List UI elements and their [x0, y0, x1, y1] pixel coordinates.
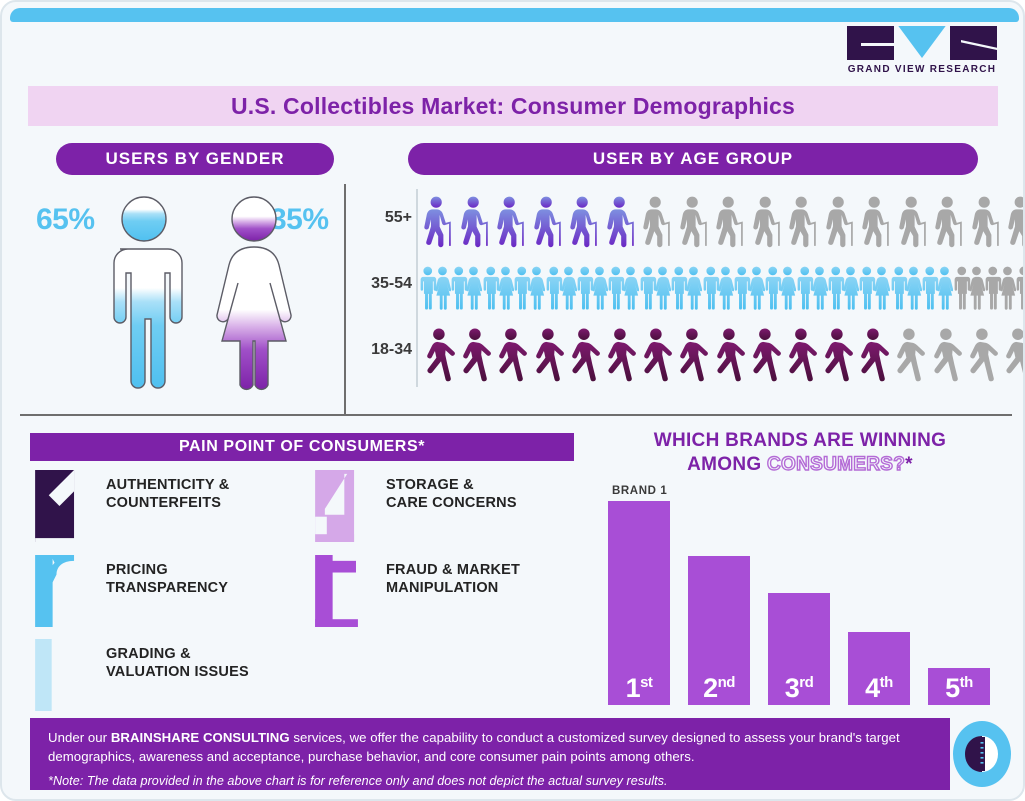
pain-point-item: PRICING TRANSPARENCY: [30, 555, 300, 635]
footer-note: *Note: The data provided in the above ch…: [48, 773, 932, 791]
walking-person-icon: [746, 323, 782, 385]
number-3-icon: [30, 639, 85, 711]
couple-icon: [734, 257, 765, 319]
age-icon-row-18-34: [420, 321, 1025, 387]
bar-2nd[interactable]: 2nd: [688, 556, 750, 705]
pain-point-label: PRICING TRANSPARENCY: [106, 561, 301, 597]
brainshare-brain-icon: [952, 720, 1012, 788]
age-icon-row-55plus: [420, 189, 1025, 255]
elderly-person-icon: [639, 191, 675, 253]
brands-title-consumers: CONSUMERS?: [767, 454, 905, 475]
pain-point-line1: FRAUD & MARKET: [386, 562, 520, 578]
number-3-glyph: [30, 639, 85, 711]
pain-point-item: FRAUD & MARKET MANIPULATION: [310, 555, 580, 635]
vertical-divider: [344, 184, 346, 416]
female-figure-icon: [206, 193, 302, 393]
elderly-person-icon: [712, 191, 748, 253]
walking-person-icon: [818, 323, 854, 385]
bar-wrapper: 2nd: [688, 556, 750, 705]
page-title: U.S. Collectibles Market: Consumer Demog…: [231, 93, 795, 120]
brands-bar-chart: WHICH BRANDS ARE WINNING AMONG CONSUMERS…: [594, 427, 1006, 705]
pain-point-line2: TRANSPARENCY: [106, 580, 228, 596]
walking-person-icon: [854, 323, 890, 385]
walking-person-icon: [782, 323, 818, 385]
age-icon-row-35-54: [420, 255, 1025, 321]
elderly-person-icon: [676, 191, 712, 253]
age-label-55plus: 55+: [356, 209, 412, 227]
elderly-person-icon: [895, 191, 931, 253]
pain-point-label: GRADING & VALUATION ISSUES: [106, 645, 301, 681]
age-row-18-34: 18-34: [354, 321, 1002, 387]
page-title-band: U.S. Collectibles Market: Consumer Demog…: [28, 86, 998, 126]
footer-text-pre: Under our: [48, 730, 111, 745]
couple-icon: [640, 257, 671, 319]
couple-icon: [671, 257, 702, 319]
couple-icon: [546, 257, 577, 319]
elderly-person-icon: [530, 191, 566, 253]
couple-icon: [608, 257, 639, 319]
brand-1-annotation: BRAND 1: [612, 485, 667, 497]
pain-point-item: STORAGE & CARE CONCERNS: [310, 470, 580, 550]
pain-point-line2: MANIPULATION: [386, 580, 498, 596]
number-1-glyph: [30, 470, 85, 542]
elderly-person-icon: [858, 191, 894, 253]
walking-person-icon: [601, 323, 637, 385]
bar-4th[interactable]: 4th: [848, 632, 910, 705]
pain-point-label: STORAGE & CARE CONCERNS: [386, 476, 581, 512]
logo-g-block: [847, 26, 894, 60]
walking-person-icon: [637, 323, 673, 385]
elderly-person-icon: [566, 191, 602, 253]
number-4-glyph: [310, 470, 365, 542]
couple-icon: [451, 257, 482, 319]
bar-wrapper: 3rd: [768, 593, 830, 705]
walking-person-icon: [927, 323, 963, 385]
elderly-person-icon: [968, 191, 1004, 253]
couple-icon: [954, 257, 985, 319]
bar-rank-label: 5th: [945, 675, 973, 705]
bar-rank-label: 4th: [865, 675, 893, 705]
walking-person-icon: [492, 323, 528, 385]
elderly-person-icon: [822, 191, 858, 253]
logo-wordmark: GRAND VIEW RESEARCH: [847, 64, 997, 75]
number-1-icon: [30, 470, 85, 542]
walking-person-icon: [529, 323, 565, 385]
elderly-person-icon: [785, 191, 821, 253]
bar-3rd[interactable]: 3rd: [768, 593, 830, 705]
logo-r-block: [950, 26, 997, 60]
bar-group: 1st2nd3rd4th5th: [608, 501, 1000, 705]
elderly-person-icon: [1004, 191, 1025, 253]
age-row-35-54: 35-54: [354, 255, 1002, 321]
age-axis-tick: [416, 255, 418, 321]
bar-wrapper: 4th: [848, 632, 910, 705]
walking-person-icon: [565, 323, 601, 385]
pain-point-line1: GRADING &: [106, 646, 191, 662]
elderly-person-icon: [603, 191, 639, 253]
elderly-person-icon: [931, 191, 967, 253]
brands-chart-title: WHICH BRANDS ARE WINNING AMONG CONSUMERS…: [594, 427, 1006, 477]
brands-title-line1: WHICH BRANDS ARE WINNING: [654, 430, 947, 451]
pain-point-line2: CARE CONCERNS: [386, 495, 517, 511]
pain-point-label: FRAUD & MARKET MANIPULATION: [386, 561, 581, 597]
logo-marks: [847, 26, 997, 60]
elderly-person-icon: [457, 191, 493, 253]
number-4-icon: [310, 470, 365, 542]
couple-icon: [514, 257, 545, 319]
walking-person-icon: [420, 323, 456, 385]
male-figure-icon: [96, 193, 192, 393]
horizontal-divider: [20, 414, 1012, 416]
walking-person-icon: [673, 323, 709, 385]
elderly-person-icon: [749, 191, 785, 253]
walking-person-icon: [963, 323, 999, 385]
bar-wrapper: 1st: [608, 501, 670, 705]
couple-icon: [985, 257, 1016, 319]
elderly-person-icon: [420, 191, 456, 253]
brands-title-asterisk: *: [905, 454, 913, 475]
couple-icon: [828, 257, 859, 319]
walking-person-icon: [710, 323, 746, 385]
couple-icon: [922, 257, 953, 319]
couple-icon: [703, 257, 734, 319]
section-heading-age-group: USER BY AGE GROUP: [408, 143, 978, 175]
bar-wrapper: 5th: [928, 668, 990, 705]
number-2-glyph: [30, 555, 85, 627]
footer-brand-name: BRAINSHARE CONSULTING: [111, 730, 290, 745]
bar-rank-label: 3rd: [785, 675, 814, 705]
walking-person-icon: [999, 323, 1025, 385]
walking-person-icon: [890, 323, 926, 385]
couple-icon: [577, 257, 608, 319]
age-axis-tick: [416, 189, 418, 255]
couple-icon: [1016, 257, 1025, 319]
infographic-poster: GRAND VIEW RESEARCH U.S. Collectibles Ma…: [0, 0, 1025, 801]
footer-panel: Under our BRAINSHARE CONSULTING services…: [30, 718, 950, 790]
couple-icon: [420, 257, 451, 319]
couple-icon: [483, 257, 514, 319]
bar-1st[interactable]: 1st: [608, 501, 670, 705]
elderly-person-icon: [493, 191, 529, 253]
pain-point-line1: STORAGE &: [386, 477, 474, 493]
brands-title-among: AMONG: [687, 454, 767, 475]
pain-point-item: GRADING & VALUATION ISSUES: [30, 639, 300, 719]
pain-point-line1: AUTHENTICITY &: [106, 477, 229, 493]
walking-person-icon: [456, 323, 492, 385]
age-row-55plus: 55+: [354, 189, 1002, 255]
male-percentage: 65%: [36, 203, 95, 237]
age-label-18-34: 18-34: [356, 341, 412, 359]
couple-icon: [797, 257, 828, 319]
brand-logo: GRAND VIEW RESEARCH: [847, 26, 997, 76]
couple-icon: [765, 257, 796, 319]
pain-point-label: AUTHENTICITY & COUNTERFEITS: [106, 476, 301, 512]
pain-point-line2: COUNTERFEITS: [106, 495, 221, 511]
couple-icon: [891, 257, 922, 319]
age-group-chart: 55+ 35-54 18-34: [354, 187, 1002, 407]
pain-point-line2: VALUATION ISSUES: [106, 664, 249, 680]
section-heading-gender: USERS BY GENDER: [56, 143, 334, 175]
section-heading-pain-points: PAIN POINT OF CONSUMERS*: [30, 433, 574, 461]
number-5-icon: [310, 555, 365, 627]
number-2-icon: [30, 555, 85, 627]
age-axis-tick: [416, 321, 418, 387]
logo-v-triangle-icon: [898, 26, 945, 58]
couple-icon: [859, 257, 890, 319]
bar-rank-label: 1st: [626, 675, 653, 705]
pain-point-line1: PRICING: [106, 562, 168, 578]
number-5-glyph: [310, 555, 365, 627]
age-label-35-54: 35-54: [356, 275, 412, 293]
gender-chart: 65% 35%: [28, 187, 340, 402]
bar-5th[interactable]: 5th: [928, 668, 990, 705]
footer-text: Under our BRAINSHARE CONSULTING services…: [48, 729, 932, 766]
top-accent-bar: [10, 8, 1019, 22]
pain-point-item: AUTHENTICITY & COUNTERFEITS: [30, 470, 300, 550]
bar-rank-label: 2nd: [703, 675, 735, 705]
